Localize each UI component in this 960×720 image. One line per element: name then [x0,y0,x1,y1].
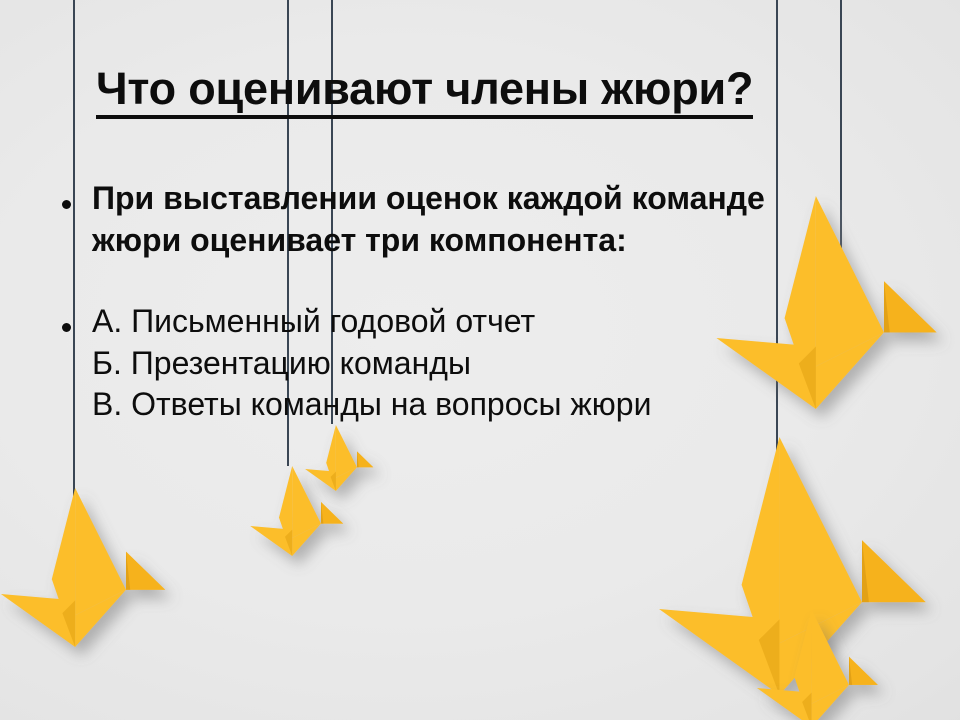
bullet-group-1: При выставлении оценок каждой команде жю… [56,178,906,261]
bullet-2-line-2: Б. Презентацию команды [92,343,906,385]
slide-title-text: Что оценивают члены жюри? [96,63,753,119]
slide-body: При выставлении оценок каждой команде жю… [56,178,906,466]
bullet-marker-2 [56,301,92,337]
bullet-lines-1: При выставлении оценок каждой команде жю… [92,178,906,261]
presentation-slide: Что оценивают члены жюри? При выставлени… [0,0,960,720]
bullet-2-line-3: В. Ответы команды на вопросы жюри [92,384,906,426]
bullet-1-line-1: При выставлении оценок каждой команде [92,178,906,220]
bullet-2-line-1: А. Письменный годовой отчет [92,301,906,343]
bullet-lines-2: А. Письменный годовой отчет Б. Презентац… [92,301,906,426]
bullet-1-line-2: жюри оценивает три компонента: [92,220,906,262]
bullet-group-2: А. Письменный годовой отчет Б. Презентац… [56,301,906,426]
bullet-marker-1 [56,178,92,214]
slide-title: Что оценивают члены жюри? [96,64,886,114]
